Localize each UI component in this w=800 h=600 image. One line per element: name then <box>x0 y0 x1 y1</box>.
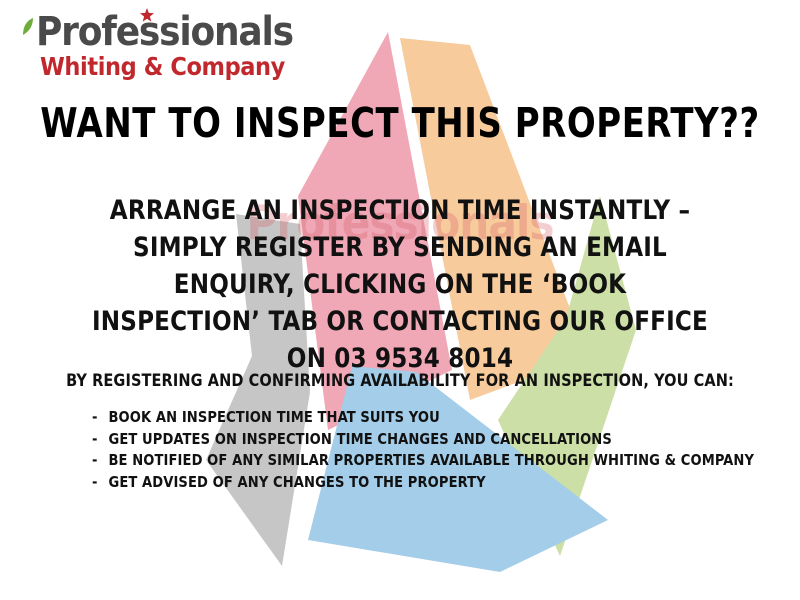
list-item-label: GET UPDATES ON INSPECTION TIME CHANGES A… <box>108 430 611 448</box>
logo-brand-line: Professionals <box>22 12 293 52</box>
page-title: WANT TO INSPECT THIS PROPERTY?? <box>32 99 768 147</box>
logo-brand-text: Professionals <box>36 9 293 55</box>
inspection-flyer: Professionals Professionals Whiting & Co… <box>0 0 800 600</box>
list-item-label: BE NOTIFIED OF ANY SIMILAR PROPERTIES AV… <box>108 451 754 469</box>
agency-logo: Professionals Whiting & Company <box>22 12 293 79</box>
lead-paragraph: ARRANGE AN INSPECTION TIME INSTANTLY – S… <box>88 192 711 377</box>
bullet-marker: - <box>92 450 108 472</box>
benefits-list: -BOOK AN INSPECTION TIME THAT SUITS YOU … <box>92 407 772 493</box>
bullet-marker: - <box>92 472 108 494</box>
leaf-icon <box>22 18 34 36</box>
list-item: -GET ADVISED OF ANY CHANGES TO THE PROPE… <box>92 472 752 494</box>
bullet-marker: - <box>92 429 108 451</box>
star-icon <box>140 8 154 22</box>
benefits-subheading: BY REGISTERING AND CONFIRMING AVAILABILI… <box>20 371 780 391</box>
list-item-label: BOOK AN INSPECTION TIME THAT SUITS YOU <box>108 408 439 426</box>
logo-office-line: Whiting & Company <box>22 54 293 79</box>
list-item: -BE NOTIFIED OF ANY SIMILAR PROPERTIES A… <box>92 450 752 472</box>
list-item: -GET UPDATES ON INSPECTION TIME CHANGES … <box>92 429 752 451</box>
bullet-marker: - <box>92 407 108 429</box>
flyer-content: WANT TO INSPECT THIS PROPERTY?? ARRANGE … <box>0 0 800 600</box>
list-item-label: GET ADVISED OF ANY CHANGES TO THE PROPER… <box>108 473 485 491</box>
list-item: -BOOK AN INSPECTION TIME THAT SUITS YOU <box>92 407 752 429</box>
